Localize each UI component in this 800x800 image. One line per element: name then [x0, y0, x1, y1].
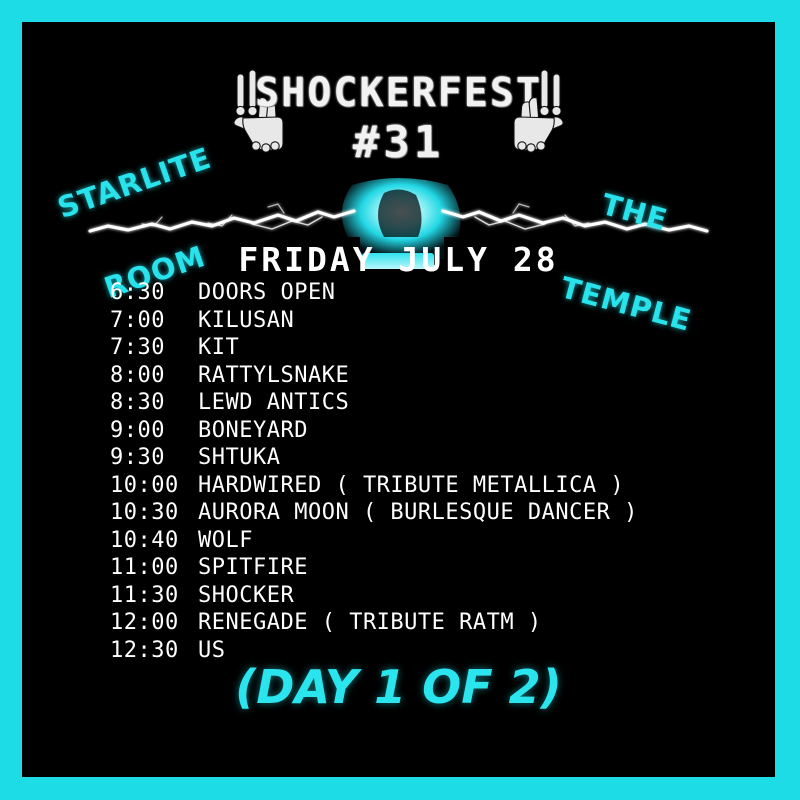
lineup-row-time: 7:00 — [110, 308, 198, 333]
lineup-schedule: 6:30DOORS OPEN7:00KILUSAN7:30KIT8:00RATT… — [110, 280, 750, 665]
venue-starlite-line1: STARLITE — [54, 142, 215, 223]
poster-stage: SHOCKERFEST #31 — [22, 22, 775, 777]
lineup-row: 12:00RENEGADE ( TRIBUTE RATM ) — [110, 610, 750, 638]
lineup-row: 7:30KIT — [110, 335, 750, 363]
lineup-row-act: BONEYARD — [198, 418, 750, 443]
lineup-row-time: 12:00 — [110, 610, 198, 635]
lineup-row-time: 11:00 — [110, 555, 198, 580]
lineup-row-act: SHTUKA — [198, 445, 750, 470]
event-date: FRIDAY JULY 28 — [22, 240, 775, 279]
lineup-row-act: US — [198, 638, 750, 663]
lineup-row: 8:00RATTYLSNAKE — [110, 363, 750, 391]
poster: SHOCKERFEST #31 — [0, 0, 800, 800]
lineup-row: 8:30LEWD ANTICS — [110, 390, 750, 418]
lineup-row-act: RENEGADE ( TRIBUTE RATM ) — [198, 610, 750, 635]
lineup-row-act: KIT — [198, 335, 750, 360]
lineup-row-time: 10:00 — [110, 473, 198, 498]
lineup-row-act: DOORS OPEN — [198, 280, 750, 305]
lineup-row-time: 9:00 — [110, 418, 198, 443]
lineup-row: 11:30SHOCKER — [110, 583, 750, 611]
lineup-row: 9:00BONEYARD — [110, 418, 750, 446]
lineup-row-time: 8:30 — [110, 390, 198, 415]
lineup-row-act: WOLF — [198, 528, 750, 553]
lineup-row-time: 8:00 — [110, 363, 198, 388]
lineup-row-act: HARDWIRED ( TRIBUTE METALLICA ) — [198, 473, 750, 498]
lineup-row-time: 10:40 — [110, 528, 198, 553]
lineup-row: 11:00SPITFIRE — [110, 555, 750, 583]
lineup-row-act: AURORA MOON ( BURLESQUE DANCER ) — [198, 500, 750, 525]
lineup-row-time: 10:30 — [110, 500, 198, 525]
lineup-row: 9:30SHTUKA — [110, 445, 750, 473]
lineup-row-act: KILUSAN — [198, 308, 750, 333]
lineup-row-time: 9:30 — [110, 445, 198, 470]
lineup-row: 10:00HARDWIRED ( TRIBUTE METALLICA ) — [110, 473, 750, 501]
lineup-row-time: 7:30 — [110, 335, 198, 360]
skeleton-horns-hand-icon-right — [505, 68, 567, 160]
lineup-row-act: RATTYLSNAKE — [198, 363, 750, 388]
lineup-row: 10:30AURORA MOON ( BURLESQUE DANCER ) — [110, 500, 750, 528]
lineup-row-act: SPITFIRE — [198, 555, 750, 580]
lineup-row-time: 11:30 — [110, 583, 198, 608]
lineup-row: 7:00KILUSAN — [110, 308, 750, 336]
lineup-row-act: SHOCKER — [198, 583, 750, 608]
lineup-row-act: LEWD ANTICS — [198, 390, 750, 415]
lineup-row: 6:30DOORS OPEN — [110, 280, 750, 308]
lineup-row-time: 6:30 — [110, 280, 198, 305]
lineup-row: 10:40WOLF — [110, 528, 750, 556]
lineup-row-time: 12:30 — [110, 638, 198, 663]
day-banner: (DAY 1 OF 2) — [22, 660, 775, 714]
